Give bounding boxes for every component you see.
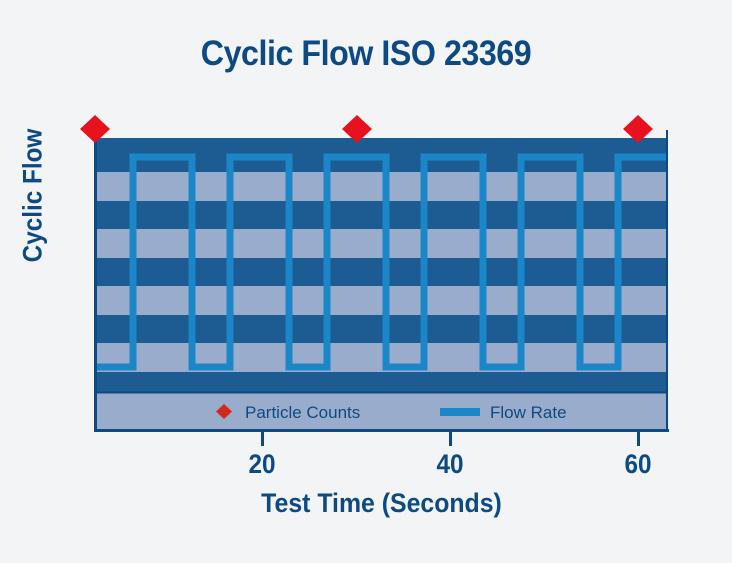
band-dark-5 bbox=[95, 372, 668, 393]
plot-area: Particle Counts Flow Rate bbox=[0, 0, 732, 563]
chart-canvas: Cyclic Flow ISO 23369 Cyclic Flow Test T… bbox=[0, 0, 732, 563]
legend-line-icon bbox=[440, 408, 480, 416]
legend-band-background bbox=[95, 393, 668, 429]
legend-label-particle-counts: Particle Counts bbox=[245, 403, 360, 422]
legend-label-flow-rate: Flow Rate bbox=[490, 403, 567, 422]
